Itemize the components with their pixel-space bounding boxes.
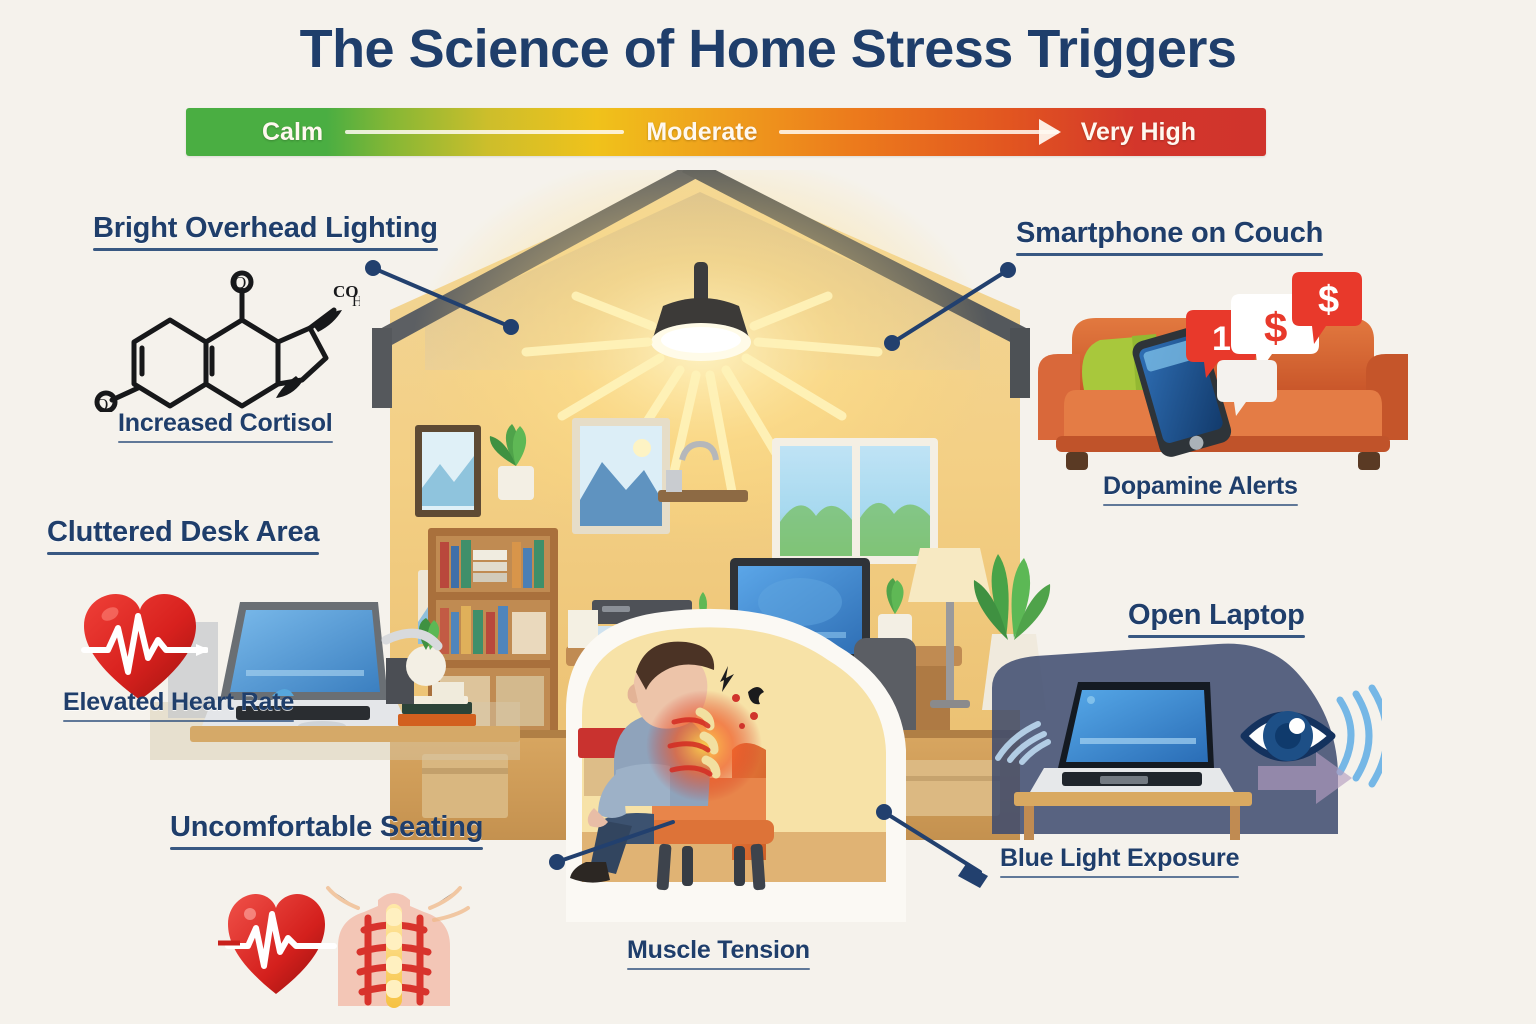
callout-label: Cluttered Desk Area	[47, 517, 319, 548]
callout-elevated-heart-rate[interactable]: Elevated Heart Rate	[63, 689, 294, 722]
callout-label: Uncomfortable Seating	[170, 812, 483, 843]
callout-underline	[63, 720, 294, 722]
callout-label: Open Laptop	[1128, 600, 1305, 631]
callout-label: Muscle Tension	[627, 937, 810, 964]
callout-underline	[1128, 635, 1305, 638]
callout-open-laptop[interactable]: Open Laptop	[1128, 600, 1305, 638]
callout-underline	[1103, 504, 1298, 506]
callout-label: Blue Light Exposure	[1000, 845, 1239, 872]
callout-underline	[93, 248, 438, 251]
callout-label: Elevated Heart Rate	[63, 689, 294, 716]
infographic-canvas: The Science of Home Stress Triggers Calm…	[0, 0, 1536, 1024]
callout-label: Increased Cortisol	[118, 410, 333, 437]
callout-bright-overhead-lighting[interactable]: Bright Overhead Lighting	[93, 213, 438, 251]
callout-underline	[1000, 876, 1239, 878]
callout-underline	[118, 441, 333, 443]
callout-underline	[170, 847, 483, 850]
callout-label: Dopamine Alerts	[1103, 473, 1298, 500]
callout-label: Bright Overhead Lighting	[93, 213, 438, 244]
connector-lines	[0, 0, 1536, 1024]
callout-underline	[47, 552, 319, 555]
callout-blue-light-exposure[interactable]: Blue Light Exposure	[1000, 845, 1239, 878]
callout-label: Smartphone on Couch	[1016, 218, 1323, 249]
callout-smartphone-on-couch[interactable]: Smartphone on Couch	[1016, 218, 1323, 256]
callout-underline	[1016, 253, 1323, 256]
callout-cluttered-desk-area[interactable]: Cluttered Desk Area	[47, 517, 319, 555]
callout-underline	[627, 968, 810, 970]
callout-increased-cortisol[interactable]: Increased Cortisol	[118, 410, 333, 443]
callout-muscle-tension[interactable]: Muscle Tension	[627, 937, 810, 970]
callout-dopamine-alerts[interactable]: Dopamine Alerts	[1103, 473, 1298, 506]
callout-uncomfortable-seating[interactable]: Uncomfortable Seating	[170, 812, 483, 850]
